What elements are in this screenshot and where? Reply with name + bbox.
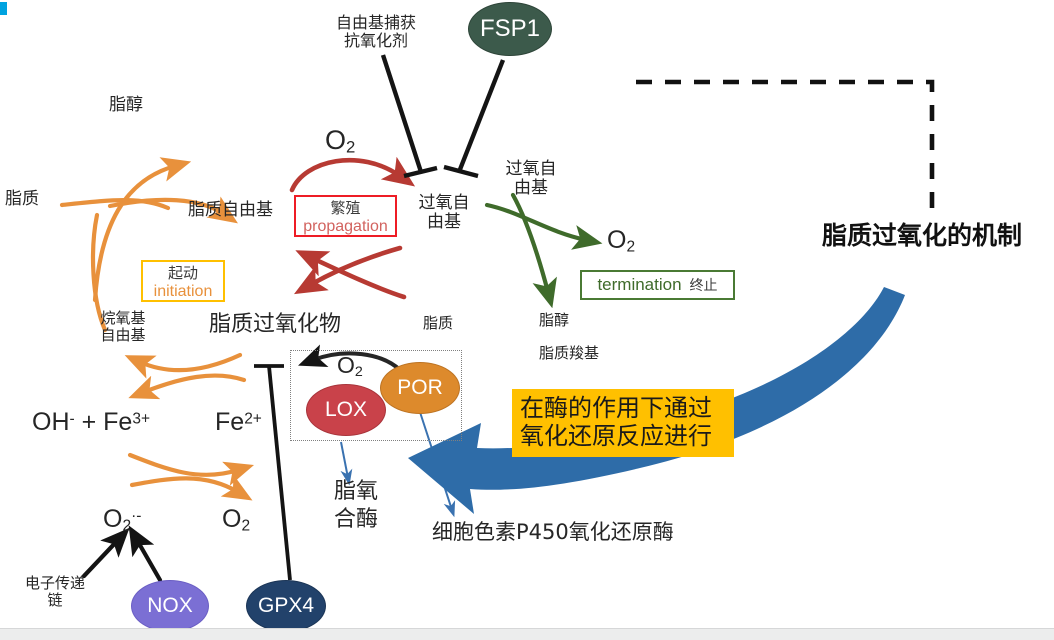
initiation-cn-label: 起动	[168, 262, 198, 283]
diagram-canvas: FSP1 NOX GPX4 LOX POR 起动 initiation 繁殖 p…	[0, 0, 1054, 640]
label-electron-transport-chain: 电子传递 链	[14, 575, 96, 609]
propagation-cn-label: 繁殖	[330, 197, 360, 218]
label-lipid-carboxyl: 脂质羧基	[539, 345, 599, 362]
label-o2-propagation: O2	[325, 125, 355, 157]
label-lipid-radical: 脂质自由基	[188, 201, 273, 220]
corner-accent-mark	[0, 2, 7, 15]
label-lipid-peroxide: 脂质过氧化物	[209, 312, 341, 337]
node-lox-label: LOX	[325, 398, 367, 422]
label-lipid-left: 脂质	[5, 190, 39, 209]
highlight-line-1: 在酶的作用下通过	[520, 394, 726, 422]
arrow-propagation-cross	[310, 248, 404, 297]
label-o2-termination: O2	[607, 226, 635, 256]
label-radical-trapping-antioxidant: 自由基捕获 抗氧化剂	[316, 14, 436, 50]
arrow-fenton-lower-cross	[130, 455, 238, 492]
stage-box-propagation[interactable]: 繁殖 propagation	[294, 195, 397, 237]
inhibitor-antioxidant-to-peroxy	[383, 55, 437, 176]
label-superoxide: O2·-	[103, 505, 141, 535]
node-fsp1[interactable]: FSP1	[468, 2, 552, 56]
arrow-termination-to-alcohol	[513, 195, 548, 292]
arrow-fenton-upper-cross	[140, 355, 244, 392]
arrow-initiation-lipid-to-radical	[62, 166, 224, 330]
label-lipoxygenase: 脂氧 合酶	[324, 478, 388, 533]
page-title: 脂质过氧化的机制	[822, 222, 1022, 251]
node-nox[interactable]: NOX	[131, 580, 209, 632]
arrow-lox-callout	[341, 442, 348, 478]
termination-en-label: termination	[597, 275, 681, 295]
inhibitor-gpx4-to-lipid-peroxide	[254, 366, 290, 580]
node-lox[interactable]: LOX	[306, 384, 386, 436]
label-oh-fe3: OH- + Fe3+	[32, 408, 150, 437]
label-peroxy-radical-center: 过氧自 由基	[413, 194, 475, 233]
arrow-propagation-upper	[292, 160, 400, 190]
stage-box-initiation[interactable]: 起动 initiation	[141, 260, 225, 302]
dashed-bracket	[636, 82, 932, 215]
arrow-termination-to-o2	[487, 205, 586, 240]
arrow-etc-to-superoxide	[84, 540, 118, 576]
node-nox-label: NOX	[147, 594, 193, 618]
inhibitor-fsp1-to-peroxy	[444, 60, 503, 176]
label-peroxy-radical-right: 过氧自 由基	[500, 160, 562, 199]
bottom-strip	[0, 629, 1054, 640]
termination-cn-label: 终止	[690, 275, 718, 295]
label-lipid-mid: 脂质	[423, 315, 453, 332]
label-o2-fenton: O2	[222, 505, 250, 535]
label-fe2: Fe2+	[215, 408, 262, 437]
highlight-line-2: 氧化还原反应进行	[520, 422, 726, 450]
label-alkoxy-radical: 烷氧基 自由基	[88, 310, 158, 344]
propagation-en-label: propagation	[303, 218, 388, 236]
node-gpx4-label: GPX4	[258, 594, 314, 618]
arrow-nox-to-superoxide	[137, 540, 160, 580]
node-por[interactable]: POR	[380, 362, 460, 414]
node-gpx4[interactable]: GPX4	[246, 580, 326, 632]
label-o2-lox: O2	[337, 352, 363, 380]
label-lipid-alcohol-top: 脂醇	[109, 96, 143, 115]
stage-box-termination[interactable]: termination 终止	[580, 270, 735, 300]
node-fsp1-label: FSP1	[480, 15, 540, 43]
label-cyp450-reductase: 细胞色素P450氧化还原酶	[432, 521, 674, 545]
highlight-callout: 在酶的作用下通过 氧化还原反应进行	[512, 389, 734, 457]
node-por-label: POR	[397, 376, 443, 400]
initiation-en-label: initiation	[154, 283, 213, 301]
label-lipid-alcohol-bottom: 脂醇	[539, 312, 569, 329]
